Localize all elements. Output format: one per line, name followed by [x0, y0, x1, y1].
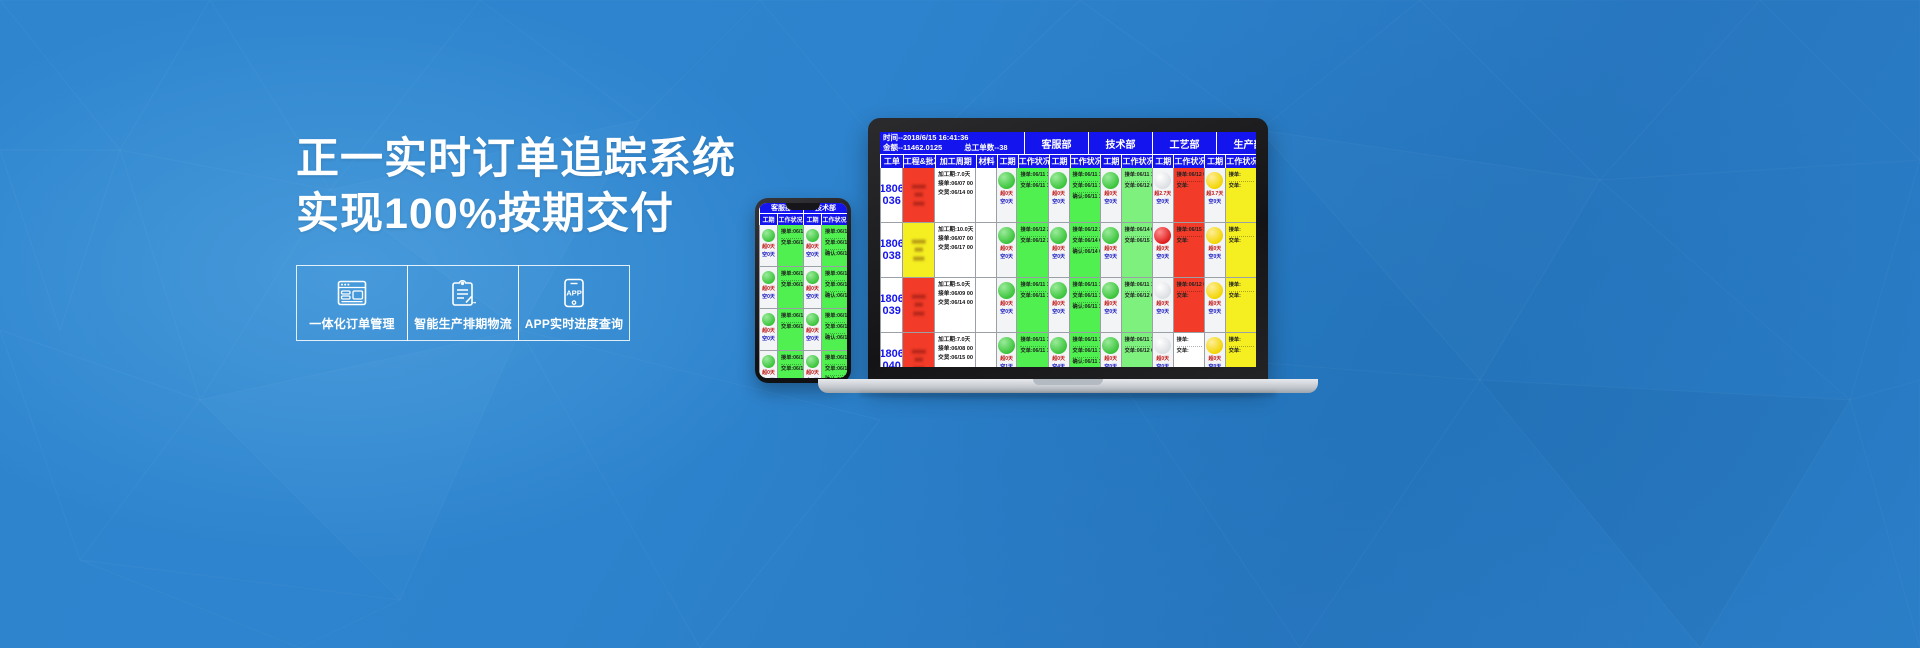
column-header-3-status: 工作状况 — [1121, 154, 1152, 168]
status-line-3: 确认:06/11 17 — [1073, 358, 1098, 367]
cycle-line-2: 接单:06/07 00 — [938, 235, 973, 244]
material-cell — [975, 333, 996, 367]
status-line-1: 接单: — [1229, 171, 1254, 182]
status-line-2: 交单:06/11 17 — [781, 323, 801, 332]
work-status-cell: 接单:06/12 09交单: — [1173, 168, 1204, 223]
remaining-tag: 空0天 — [1000, 199, 1013, 207]
cycle-line-1: 加工期:7.0天 — [938, 171, 973, 180]
duration-cell: 超0天空0天 — [1152, 278, 1173, 333]
work-status-cell: 接单:06/11 17交单:06/11 17 — [1016, 168, 1047, 223]
overdue-tag: 超0天 — [806, 370, 819, 378]
order-tracking-dashboard: 时间--2018/6/15 16:41:36金额--11462.0125总工单数… — [880, 132, 1256, 367]
duration-cell: 超0天空0天 — [759, 267, 777, 309]
remaining-tag: 空0天 — [1104, 364, 1117, 367]
status-line-3: 确认:06/11 17 — [1073, 193, 1098, 202]
work-order-suffix: 036 — [882, 195, 900, 207]
feature-item-app-progress-query[interactable]: APP APP实时进度查询 — [518, 265, 630, 341]
overdue-tag: 超0天 — [1156, 246, 1169, 254]
status-indicator-yellow — [1206, 227, 1223, 244]
duration-cell: 超0天空0天 — [1048, 278, 1069, 333]
duration-cell: 超0天空0天 — [1204, 278, 1225, 333]
duration-cell: 超0天空0天 — [1100, 333, 1121, 367]
cycle-line-2: 接单:06/08 00 — [938, 345, 973, 354]
remaining-tag: 空0天 — [1208, 254, 1221, 262]
cycle-line-1: 加工期:10.0天 — [938, 226, 973, 235]
overdue-tag: 超0天 — [806, 328, 819, 336]
dashboard-column-headers: 工单工程&批次加工周期材料工期工作状况工期工作状况工期工作状况工期工作状况工期工… — [880, 154, 1256, 168]
work-order-suffix: 040 — [882, 360, 900, 367]
duration-tags: 超0天空0天 — [762, 328, 775, 343]
work-status-cell: 接单:06/11 17交单:06/11 17 — [1016, 278, 1047, 333]
duration-cell: 超0天空0天 — [1100, 223, 1121, 278]
remaining-tag: 空0天 — [1052, 199, 1065, 207]
status-line-1: 接单:06/11 17 — [1073, 281, 1098, 292]
work-order-cell: 1806038 — [880, 223, 902, 278]
duration-tags: 超0天空0天 — [762, 286, 775, 301]
laptop-screen[interactable]: 时间--2018/6/15 16:41:36金额--11462.0125总工单数… — [880, 132, 1256, 367]
duration-tags: 超0天空0天 — [1052, 191, 1065, 206]
overdue-tag: 超0天 — [806, 244, 819, 252]
status-line-2: 交单: — [1177, 292, 1202, 301]
table-row[interactable]: 1806040▮▮▮▮▮▮▮▮▮▮▮▮加工期:7.0天接单:06/08 00交货… — [880, 333, 1256, 367]
status-line-2: 交单:06/12 20 — [781, 281, 801, 290]
cycle-line-3: 交货:06/14 00 — [938, 189, 973, 198]
duration-cell: 超0天空0天 — [1100, 168, 1121, 223]
duration-cell: 超0天空0天 — [759, 225, 777, 267]
department-header-3: 工艺部 — [1152, 132, 1216, 154]
status-line-2: 交单:06/15 16 — [1125, 237, 1150, 246]
column-header-4-status: 工作状况 — [1173, 154, 1204, 168]
status-line-1: 接单:06/12 20 — [781, 270, 801, 281]
remaining-tag: 空0天 — [1206, 199, 1223, 207]
column-header-3-duration: 工期 — [1100, 154, 1121, 168]
remaining-tag: 空0天 — [1208, 309, 1221, 317]
duration-cell: 超0天空0天 — [1048, 223, 1069, 278]
duration-tags: 超0天空1天 — [1000, 356, 1013, 367]
remaining-tag: 空0天 — [1000, 309, 1013, 317]
status-line-1: 接单:06/11 17 — [781, 354, 801, 365]
status-line-1: 接单:06/11 17 — [781, 228, 801, 239]
work-status-cell: 接单:交单: — [1225, 333, 1256, 367]
remaining-tag: 空0天 — [806, 294, 819, 302]
overdue-tag: 超2.7天 — [1154, 191, 1171, 199]
department-header-1: 客服部 — [1024, 132, 1088, 154]
work-status-cell: 接单:交单: — [1225, 278, 1256, 333]
overdue-tag: 超0天 — [1208, 356, 1221, 364]
status-line-1: 接单:06/11 17 — [1020, 281, 1045, 292]
duration-cell: 超3.7天空0天 — [1204, 168, 1225, 223]
status-line-2: 交单:06/11 17 — [1020, 347, 1045, 356]
duration-cell: 超2.7天空0天 — [1152, 168, 1173, 223]
duration-tags: 超0天空0天 — [1208, 301, 1221, 316]
dashboard-amount: 金额--11462.0125 — [883, 143, 942, 152]
table-row[interactable]: 1806039▮▮▮▮▮▮▮▮▮▮▮▮加工期:5.0天接单:06/09 00交货… — [880, 278, 1256, 333]
status-line-1: 接单:06/12 09 — [1177, 171, 1202, 182]
column-header-5-status: 工作状况 — [1225, 154, 1256, 168]
status-line-2: 交单: — [1177, 347, 1202, 356]
duration-tags: 超0天空0天 — [1156, 301, 1169, 316]
overdue-tag: 超0天 — [1052, 356, 1065, 364]
status-line-2: 交单:06/12 09 — [1125, 347, 1150, 356]
overdue-tag: 超0天 — [1000, 356, 1013, 364]
overdue-tag: 超0天 — [1156, 356, 1169, 364]
overdue-tag: 超0天 — [1156, 301, 1169, 309]
work-status-cell: 接单:06/12 20交单:06/12 20 — [777, 267, 803, 309]
overdue-tag: 超0天 — [1208, 246, 1221, 254]
work-order-prefix: 1806 — [880, 238, 902, 250]
status-line-1: 接单:06/12 09 — [1177, 281, 1202, 292]
cycle-line-1: 加工期:7.0天 — [938, 336, 973, 345]
overdue-tag: 超0天 — [762, 286, 775, 294]
work-status-cell: 接单:06/11 17交单:06/11 17确认:06/11 17 — [1069, 333, 1100, 367]
duration-cell: 超0天空0天 — [996, 168, 1017, 223]
status-line-2: 交单: — [1229, 182, 1254, 191]
work-order-prefix: 1806 — [880, 293, 902, 305]
duration-tags: 超0天空1天 — [762, 370, 775, 378]
overdue-tag: 超0天 — [1000, 246, 1013, 254]
status-line-2: 交单:06/11 17 — [1073, 292, 1098, 303]
duration-tags: 超0天空0天 — [1156, 246, 1169, 261]
work-order-prefix: 1806 — [880, 348, 902, 360]
work-status-cell: 接单:06/11 17交单:06/11 17确认:06/11 17 — [1069, 278, 1100, 333]
remaining-tag: 空0天 — [1104, 254, 1117, 262]
column-header-5-duration: 工期 — [1204, 154, 1225, 168]
duration-cell: 超0天空0天 — [759, 309, 777, 351]
overdue-tag: 超0天 — [762, 244, 775, 252]
overdue-tag: 超0天 — [762, 370, 775, 378]
overdue-tag: 超0天 — [806, 286, 819, 294]
dashboard-time: 时间--2018/6/15 16:41:36 — [883, 133, 1021, 143]
column-header-base-1: 工单 — [880, 154, 903, 168]
work-status-cell: 接单:06/14 08交单:06/15 16 — [1121, 223, 1152, 278]
status-line-1: 接单: — [1177, 336, 1202, 347]
remaining-tag: 空0天 — [1208, 364, 1221, 367]
project-batch-cell: ▮▮▮▮▮▮▮▮▮▮▮▮ — [902, 168, 934, 223]
status-indicator-white — [1154, 337, 1171, 354]
work-status-cell: 接单:交单: — [1173, 333, 1204, 367]
duration-cell: 超0天空1天 — [759, 351, 777, 378]
department-header-2: 技术部 — [1088, 132, 1152, 154]
project-batch-redacted: ▮▮▮▮▮▮▮▮▮▮▮▮ — [903, 278, 934, 332]
duration-cell: 超0天空0天 — [1152, 333, 1173, 367]
remaining-tag: 空0天 — [806, 252, 819, 260]
clipboard-schedule-icon — [450, 278, 476, 308]
duration-tags: 超0天空0天 — [1104, 191, 1117, 206]
status-indicator-yellow — [1206, 172, 1223, 189]
status-line-1: 接单:06/11 17 — [1125, 171, 1150, 182]
feature-item-label: 智能生产排期物流 — [414, 315, 512, 332]
status-line-2: 交单:06/11 17 — [1020, 292, 1045, 301]
status-indicator-green — [998, 172, 1015, 189]
duration-tags: 超0天空0天 — [1104, 356, 1117, 367]
status-indicator-red — [1154, 227, 1171, 244]
remaining-tag: 空1天 — [1000, 364, 1013, 367]
status-line-2: 交单:06/11 17 — [1020, 182, 1045, 191]
material-cell — [975, 168, 996, 223]
duration-tags: 超0天空0天 — [1208, 356, 1221, 367]
remaining-tag: 空0天 — [1052, 254, 1065, 262]
remaining-tag: 空0天 — [762, 252, 775, 260]
laptop-shadow — [860, 393, 1276, 398]
status-line-2: 交单: — [1229, 292, 1254, 301]
status-line-1: 接单:06/12 20 — [1073, 226, 1098, 237]
status-line-1: 接单:06/11 17 — [1125, 336, 1150, 347]
status-indicator-white — [1154, 172, 1171, 189]
overdue-tag: 超0天 — [1052, 191, 1065, 199]
overdue-tag: 超0天 — [1104, 191, 1117, 199]
overdue-tag: 超0天 — [762, 328, 775, 336]
work-status-cell: 接单:06/11 17交单:06/11 17 — [777, 351, 803, 378]
duration-cell: 超0天空1天 — [996, 333, 1017, 367]
duration-tags: 超0天空0天 — [1000, 246, 1013, 261]
status-indicator-green — [1102, 282, 1119, 299]
duration-cell: 超0天空0天 — [1100, 278, 1121, 333]
project-batch-redacted: ▮▮▮▮▮▮▮▮▮▮▮▮ — [903, 168, 934, 222]
remaining-tag: 空0天 — [806, 336, 819, 344]
feature-item-production-scheduling[interactable]: 智能生产排期物流 — [407, 265, 519, 341]
overdue-tag: 超0天 — [1000, 301, 1013, 309]
column-header-1-duration: 工期 — [997, 154, 1018, 168]
remaining-tag: 空0天 — [1156, 254, 1169, 262]
work-order-suffix: 038 — [882, 250, 900, 262]
status-line-2: 交单:06/11 17 — [1073, 347, 1098, 358]
status-line-1: 接单:06/11 17 — [1073, 171, 1098, 182]
status-line-1: 接单:06/12 20 — [1020, 226, 1045, 237]
overdue-tag: 超0天 — [1208, 301, 1221, 309]
duration-cell: 超0天空0天 — [1204, 223, 1225, 278]
status-line-2: 交单:06/11 17 — [781, 365, 801, 374]
promo-banner: 正一实时订单追踪系统 实现100%按期交付 一体化订单管理 — [0, 0, 1920, 648]
work-status-cell: 接单:06/12 20交单:06/14 08确认:06/14 08 — [1069, 223, 1100, 278]
column-header-base-3: 加工周期 — [935, 154, 975, 168]
work-status-cell: 接单:06/12 20交单:06/12 20 — [1016, 223, 1047, 278]
overdue-tag: 超0天 — [1052, 246, 1065, 254]
duration-cell: 超0天空4天 — [1048, 333, 1069, 367]
processing-cycle-cell: 加工期:5.0天接单:06/09 00交货:06/14 00 — [934, 278, 975, 333]
duration-cell: 超0天空0天 — [1152, 223, 1173, 278]
remaining-tag: 空0天 — [1104, 199, 1117, 207]
status-line-2: 交单:06/12 09 — [1125, 292, 1150, 301]
duration-tags: 超0天空0天 — [1104, 301, 1117, 316]
status-line-2: 交单: — [1177, 182, 1202, 191]
status-indicator-green — [1050, 337, 1067, 354]
work-order-cell: 1806040 — [880, 333, 902, 367]
material-cell — [975, 278, 996, 333]
work-order-prefix: 1806 — [880, 183, 902, 195]
work-status-cell: 接单:06/11 17交单:06/12 09 — [1121, 168, 1152, 223]
status-line-2: 交单:06/11 17 — [1073, 182, 1098, 193]
remaining-tag: 空0天 — [1156, 309, 1169, 317]
overdue-tag: 超0天 — [1104, 246, 1117, 254]
column-header-2-duration: 工期 — [1049, 154, 1070, 168]
work-status-cell: 接单:06/12 09交单: — [1173, 278, 1204, 333]
duration-tags: 超0天空0天 — [762, 244, 775, 259]
work-status-cell: 接单:06/11 17交单:06/12 09 — [1121, 333, 1152, 367]
work-status-cell: 接单:06/15 16交单: — [1173, 223, 1204, 278]
status-indicator-green — [1102, 337, 1119, 354]
column-header-base-2: 工程&批次 — [903, 154, 935, 168]
status-indicator-green — [762, 313, 775, 326]
remaining-tag: 空4天 — [806, 378, 819, 379]
duration-tags: 超2.7天空0天 — [1154, 191, 1171, 206]
laptop-trackpad-notch — [1033, 379, 1103, 385]
processing-cycle-cell: 加工期:7.0天接单:06/07 00交货:06/14 00 — [934, 168, 975, 223]
duration-cell: 超0天空0天 — [996, 223, 1017, 278]
status-line-2: 交单:06/12 09 — [1125, 182, 1150, 191]
project-batch-redacted: ▮▮▮▮▮▮▮▮▮▮▮▮ — [903, 223, 934, 277]
material-cell — [975, 223, 996, 278]
cycle-line-3: 交货:06/14 00 — [938, 299, 973, 308]
column-header-4-duration: 工期 — [1152, 154, 1173, 168]
status-line-2: 交单:06/11 17 — [781, 239, 801, 248]
cycle-line-3: 交货:06/17 00 — [938, 244, 973, 253]
feature-item-label: APP实时进度查询 — [525, 315, 623, 332]
headline-block: 正一实时订单追踪系统 实现100%按期交付 — [296, 132, 726, 242]
status-indicator-green — [1102, 172, 1119, 189]
processing-cycle-cell: 加工期:7.0天接单:06/08 00交货:06/15 00 — [934, 333, 975, 367]
duration-tags: 超3.7天空0天 — [1206, 191, 1223, 206]
status-line-1: 接单:06/11 17 — [1073, 336, 1098, 347]
remaining-tag: 空0天 — [1154, 199, 1171, 207]
duration-tags: 超0天空0天 — [1104, 246, 1117, 261]
overdue-tag: 超0天 — [1000, 191, 1013, 199]
duration-tags: 超0天空0天 — [806, 286, 819, 301]
remaining-tag: 空0天 — [762, 294, 775, 302]
feature-item-label: 一体化订单管理 — [309, 315, 394, 332]
work-status-cell: 接单:06/11 17交单:06/11 17 — [777, 225, 803, 267]
work-status-cell: 接单:06/11 17交单:06/11 17 — [777, 309, 803, 351]
work-order-cell: 1806039 — [880, 278, 902, 333]
column-header-2-status: 工作状况 — [1070, 154, 1101, 168]
status-indicator-yellow — [1206, 337, 1223, 354]
duration-cell: 超0天空0天 — [996, 278, 1017, 333]
duration-tags: 超0天空0天 — [806, 328, 819, 343]
department-header-4: 生产部 — [1216, 132, 1256, 154]
status-line-1: 接单:06/14 08 — [1125, 226, 1150, 237]
work-status-cell: 接单:06/11 17交单:06/12 09 — [1121, 278, 1152, 333]
feature-item-order-management[interactable]: 一体化订单管理 — [296, 265, 408, 341]
status-line-2: 交单:06/14 08 — [1073, 237, 1098, 248]
overdue-tag: 超3.7天 — [1206, 191, 1223, 199]
project-batch-cell: ▮▮▮▮▮▮▮▮▮▮▮▮ — [902, 223, 934, 278]
laptop-mockup: 时间--2018/6/15 16:41:36金额--11462.0125总工单数… — [818, 118, 1318, 418]
status-line-1: 接单: — [1229, 226, 1254, 237]
headline-line-2: 实现100%按期交付 — [296, 187, 726, 242]
project-batch-redacted: ▮▮▮▮▮▮▮▮▮▮▮▮ — [903, 333, 934, 367]
column-header-1-status: 工作状况 — [1018, 154, 1049, 168]
status-line-2: 交单: — [1229, 347, 1254, 356]
mobile-app-icon: APP — [563, 278, 585, 308]
duration-tags: 超0天空0天 — [1156, 356, 1169, 367]
cycle-line-1: 加工期:5.0天 — [938, 281, 973, 290]
status-indicator-green — [762, 229, 775, 242]
duration-cell: 超0天空0天 — [1204, 333, 1225, 367]
remaining-tag: 空0天 — [762, 336, 775, 344]
status-line-1: 接单:06/11 17 — [1020, 171, 1045, 182]
duration-tags: 超0天空4天 — [806, 370, 819, 378]
status-line-3: 确认:06/14 08 — [1073, 248, 1098, 257]
status-indicator-yellow — [1206, 282, 1223, 299]
duration-tags: 超0天空4天 — [1052, 356, 1065, 367]
duration-tags: 超0天空0天 — [1052, 246, 1065, 261]
status-line-1: 接单:06/15 16 — [1177, 226, 1202, 237]
dashboard-window-icon — [337, 278, 367, 308]
dashboard-totals: 金额--11462.0125总工单数--38 — [883, 143, 1021, 153]
remaining-tag: 空0天 — [1000, 254, 1013, 262]
work-status-cell: 接单:06/11 17交单:06/11 17确认:06/11 17 — [1069, 168, 1100, 223]
remaining-tag: 空0天 — [1052, 309, 1065, 317]
remaining-tag: 空4天 — [1052, 364, 1065, 367]
status-indicator-green — [1102, 227, 1119, 244]
column-header-base-4: 材料 — [976, 154, 997, 168]
column-header-1-status: 工作状况 — [777, 213, 803, 225]
status-line-3: 确认:06/11 17 — [1073, 303, 1098, 312]
status-line-1: 接单: — [1229, 281, 1254, 292]
status-line-2: 交单: — [1177, 237, 1202, 246]
duration-tags: 超0天空0天 — [806, 244, 819, 259]
remaining-tag: 空0天 — [1104, 309, 1117, 317]
status-indicator-green — [998, 282, 1015, 299]
dashboard-order-count: 总工单数--38 — [964, 143, 1007, 152]
duration-tags: 超0天空0天 — [1000, 191, 1013, 206]
work-status-cell: 接单:交单: — [1225, 223, 1256, 278]
dashboard-topbar: 时间--2018/6/15 16:41:36金额--11462.0125总工单数… — [880, 132, 1256, 154]
cycle-line-2: 接单:06/07 00 — [938, 180, 973, 189]
status-line-1: 接单:06/11 17 — [1020, 336, 1045, 347]
status-line-1: 接单:06/11 17 — [1125, 281, 1150, 292]
table-row[interactable]: 1806036▮▮▮▮▮▮▮▮▮▮▮▮加工期:7.0天接单:06/07 00交货… — [880, 168, 1256, 223]
svg-text:APP: APP — [566, 288, 582, 297]
remaining-tag: 空1天 — [762, 378, 775, 379]
remaining-tag: 空0天 — [1156, 364, 1169, 367]
status-indicator-green — [1050, 282, 1067, 299]
work-status-cell: 接单:06/11 17交单:06/11 17 — [1016, 333, 1047, 367]
work-order-suffix: 039 — [882, 305, 900, 317]
status-indicator-green — [1050, 227, 1067, 244]
status-indicator-green — [1050, 172, 1067, 189]
status-indicator-green — [762, 355, 775, 368]
work-order-cell: 1806036 — [880, 168, 902, 223]
status-line-1: 接单: — [1229, 336, 1254, 347]
project-batch-cell: ▮▮▮▮▮▮▮▮▮▮▮▮ — [902, 278, 934, 333]
status-line-2: 交单:06/12 20 — [1020, 237, 1045, 246]
project-batch-cell: ▮▮▮▮▮▮▮▮▮▮▮▮ — [902, 333, 934, 367]
status-indicator-green — [998, 337, 1015, 354]
table-row[interactable]: 1806038▮▮▮▮▮▮▮▮▮▮▮▮加工期:10.0天接单:06/07 00交… — [880, 223, 1256, 278]
duration-tags: 超0天空0天 — [1052, 301, 1065, 316]
processing-cycle-cell: 加工期:10.0天接单:06/07 00交货:06/17 00 — [934, 223, 975, 278]
duration-tags: 超0天空0天 — [1000, 301, 1013, 316]
status-line-1: 接单:06/11 17 — [781, 312, 801, 323]
work-status-cell: 接单:交单: — [1225, 168, 1256, 223]
cycle-line-3: 交货:06/15 00 — [938, 354, 973, 363]
duration-cell: 超0天空0天 — [1048, 168, 1069, 223]
column-header-1-duration: 工期 — [759, 213, 777, 225]
duration-tags: 超0天空0天 — [1208, 246, 1221, 261]
phone-notch — [786, 203, 820, 210]
overdue-tag: 超0天 — [1052, 301, 1065, 309]
dashboard-meta: 时间--2018/6/15 16:41:36金额--11462.0125总工单数… — [880, 132, 1024, 154]
cycle-line-2: 接单:06/09 00 — [938, 290, 973, 299]
laptop-lid: 时间--2018/6/15 16:41:36金额--11462.0125总工单数… — [868, 118, 1268, 383]
overdue-tag: 超0天 — [1104, 356, 1117, 364]
status-indicator-green — [998, 227, 1015, 244]
overdue-tag: 超0天 — [1104, 301, 1117, 309]
status-line-2: 交单: — [1229, 237, 1254, 246]
status-indicator-green — [762, 271, 775, 284]
headline-line-1: 正一实时订单追踪系统 — [296, 132, 726, 187]
feature-list: 一体化订单管理 智能生产排期物流 — [296, 265, 629, 341]
